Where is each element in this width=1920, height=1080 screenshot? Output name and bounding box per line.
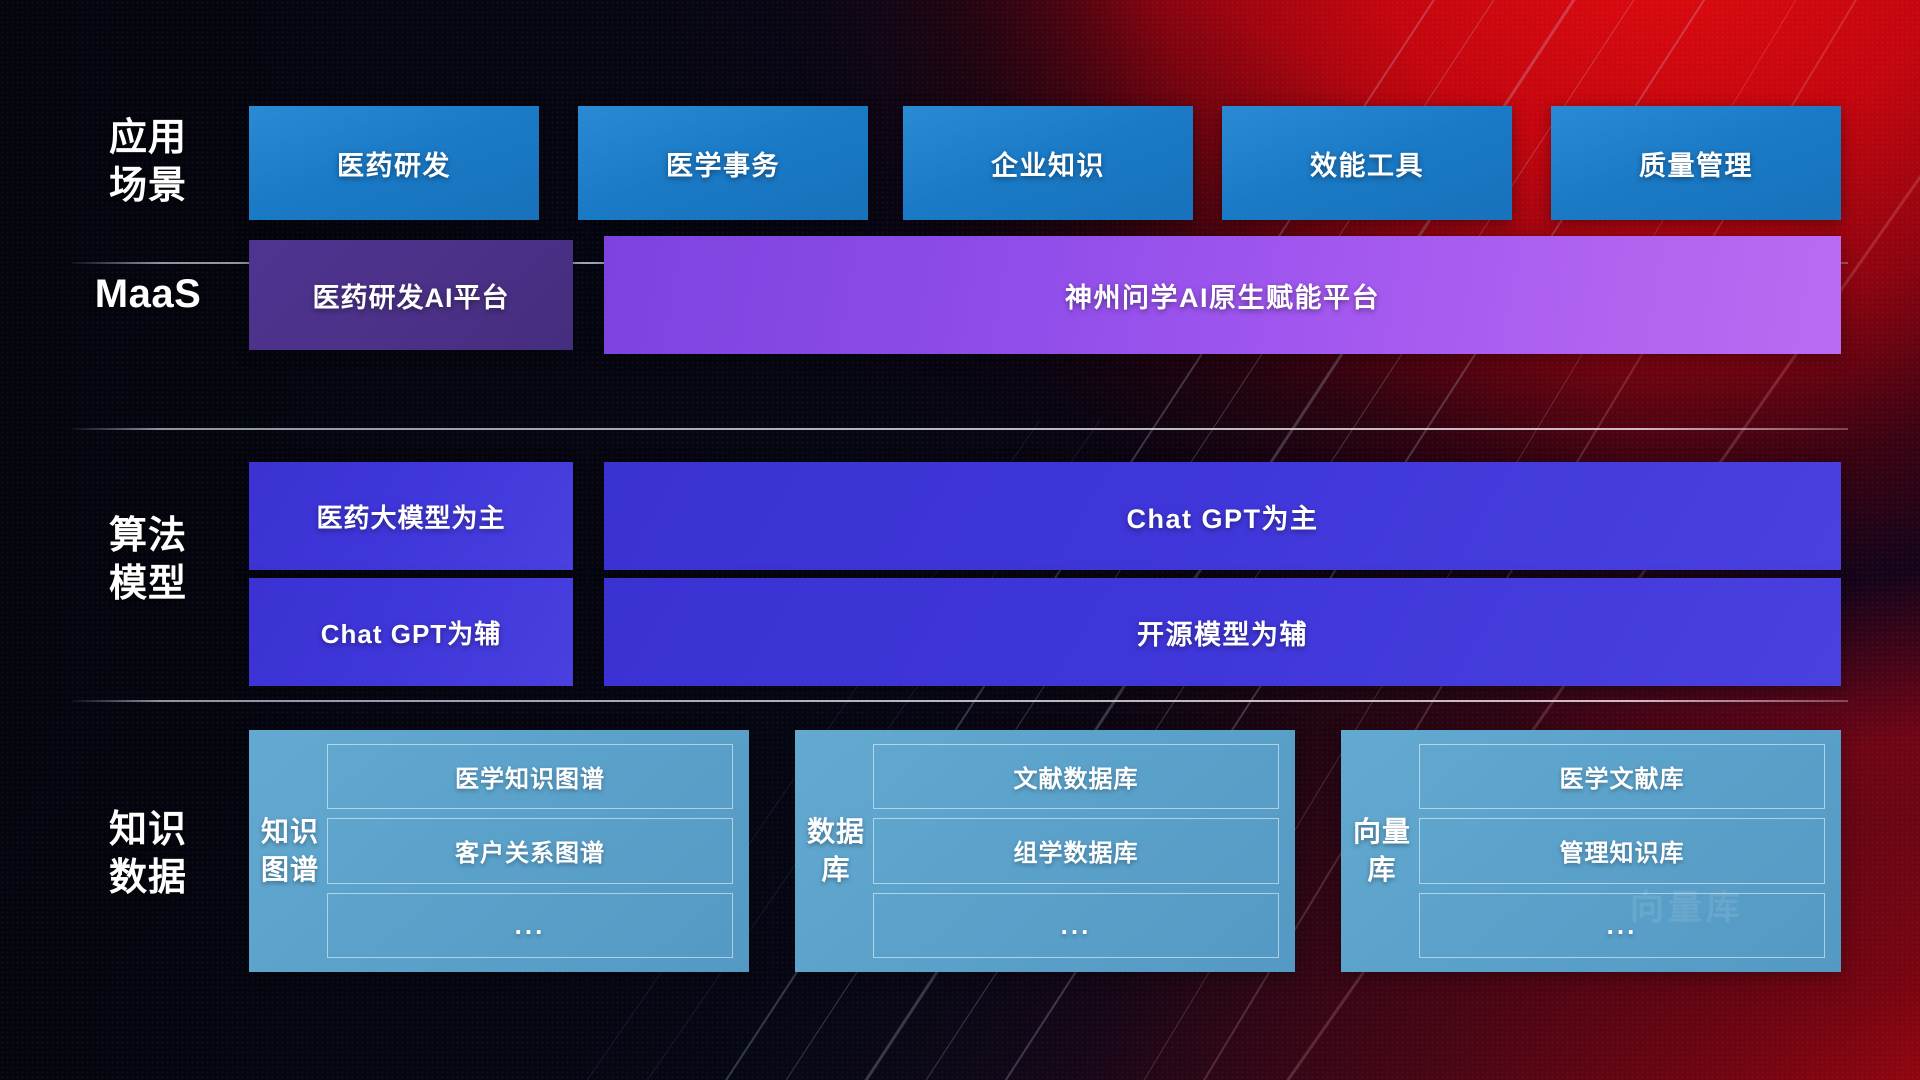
app-card-4[interactable]: 效能工具 [1222, 106, 1512, 220]
knowledge-group-database-items: 文献数据库 组学数据库 ... [867, 744, 1279, 958]
app-card-3-label: 企业知识 [991, 144, 1105, 183]
algo-card-chatgpt-primary-label: Chat GPT为主 [1126, 497, 1318, 536]
algo-card-chatgpt-secondary[interactable]: Chat GPT为辅 [249, 578, 573, 686]
maas-platform-shenzhou[interactable]: 神州问学AI原生赋能平台 [604, 236, 1841, 354]
knowledge-group-graph-title: 知识图谱 [259, 813, 321, 889]
algo-card-chatgpt-primary[interactable]: Chat GPT为主 [604, 462, 1841, 570]
app-card-5[interactable]: 质量管理 [1551, 106, 1841, 220]
knowledge-group-vector-title: 向量库 [1351, 813, 1413, 889]
row-label-algorithm: 算法 模型 [72, 512, 224, 608]
knowledge-item-medical-literature[interactable]: 医学文献库 [1419, 744, 1825, 809]
maas-platform-medical-label: 医药研发AI平台 [313, 276, 510, 315]
maas-platform-shenzhou-label: 神州问学AI原生赋能平台 [1065, 276, 1380, 315]
maas-platform-medical[interactable]: 医药研发AI平台 [249, 240, 573, 350]
algo-card-medical-primary[interactable]: 医药大模型为主 [249, 462, 573, 570]
row-label-knowledge: 知识 数据 [72, 806, 224, 902]
knowledge-group-database-title: 数据库 [805, 813, 867, 889]
app-card-1[interactable]: 医药研发 [249, 106, 539, 220]
algo-card-opensource-secondary[interactable]: 开源模型为辅 [604, 578, 1841, 686]
app-card-2-label: 医学事务 [666, 144, 780, 183]
architecture-diagram-canvas: 应用 场景 医药研发 医学事务 企业知识 效能工具 质量管理 MaaS 医药研发… [0, 0, 1920, 1080]
knowledge-item-graph-more[interactable]: ... [327, 893, 733, 958]
algo-card-opensource-secondary-label: 开源模型为辅 [1137, 613, 1308, 652]
algo-card-medical-primary-label: 医药大模型为主 [316, 498, 505, 535]
knowledge-item-management-knowledge[interactable]: 管理知识库 [1419, 818, 1825, 883]
row-label-application: 应用 场景 [72, 114, 224, 210]
app-card-4-label: 效能工具 [1310, 144, 1424, 183]
knowledge-group-vector-items: 医学文献库 管理知识库 ... [1413, 744, 1825, 958]
knowledge-item-literature-db[interactable]: 文献数据库 [873, 744, 1279, 809]
knowledge-item-database-more[interactable]: ... [873, 893, 1279, 958]
row-label-maas: MaaS [72, 270, 224, 318]
knowledge-group-database[interactable]: 数据库 文献数据库 组学数据库 ... [795, 730, 1295, 972]
app-card-3[interactable]: 企业知识 [903, 106, 1193, 220]
knowledge-item-medical-graph[interactable]: 医学知识图谱 [327, 744, 733, 809]
knowledge-group-graph[interactable]: 知识图谱 医学知识图谱 客户关系图谱 ... [249, 730, 749, 972]
algo-card-chatgpt-secondary-label: Chat GPT为辅 [321, 614, 501, 651]
knowledge-item-omics-db[interactable]: 组学数据库 [873, 818, 1279, 883]
app-card-5-label: 质量管理 [1639, 144, 1753, 183]
knowledge-item-vector-more[interactable]: ... [1419, 893, 1825, 958]
app-card-2[interactable]: 医学事务 [578, 106, 868, 220]
divider-algorithm-knowledge [72, 700, 1848, 702]
knowledge-group-vector[interactable]: 向量库 医学文献库 管理知识库 ... [1341, 730, 1841, 972]
divider-maas-algorithm [72, 428, 1848, 430]
diagram-content: 应用 场景 医药研发 医学事务 企业知识 效能工具 质量管理 MaaS 医药研发… [0, 0, 1920, 1080]
app-card-1-label: 医药研发 [337, 144, 451, 183]
knowledge-item-customer-graph[interactable]: 客户关系图谱 [327, 818, 733, 883]
knowledge-group-graph-items: 医学知识图谱 客户关系图谱 ... [321, 744, 733, 958]
